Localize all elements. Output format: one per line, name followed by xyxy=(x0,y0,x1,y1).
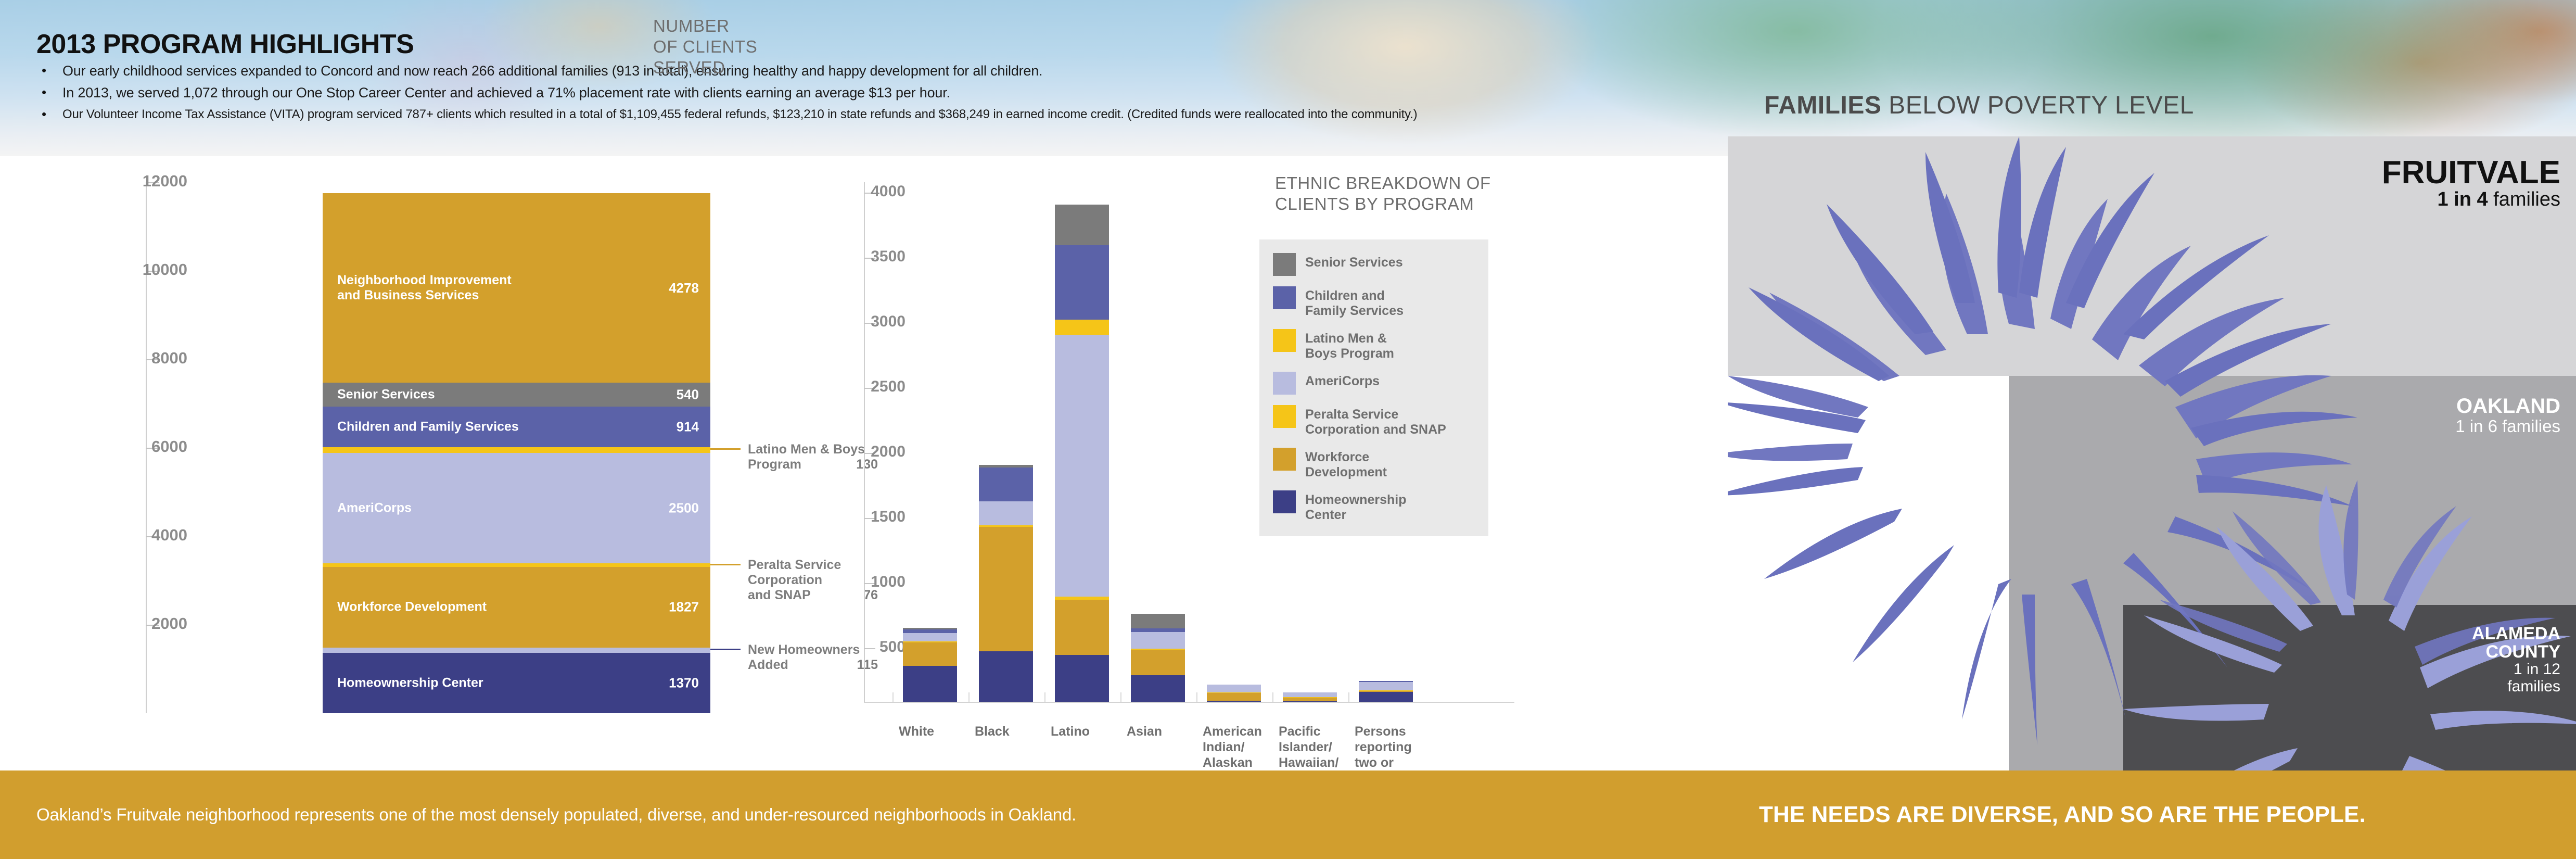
stat-oakland: OAKLAND 1 in 6 families xyxy=(2455,396,2560,436)
list-item: • Our early childhood services expanded … xyxy=(36,62,1754,79)
callout-line: Peralta Service xyxy=(748,558,878,573)
poverty-title: FAMILIES BELOW POVERTY LEVEL xyxy=(1764,91,2194,120)
bar-segment xyxy=(1055,245,1109,320)
bar-segment-row: Children and Family Services914 xyxy=(337,419,699,434)
callout-text: New HomeownersAdded115 xyxy=(748,642,878,673)
stat-fruitvale-name: FRUITVALE xyxy=(2382,156,2560,189)
stat-oakland-name: OAKLAND xyxy=(2455,396,2560,417)
x-axis-separator xyxy=(968,692,970,702)
bar-segment xyxy=(1359,692,1413,702)
y-tick-label: 3000 xyxy=(871,313,906,331)
legend-label: Workforce Development xyxy=(1305,448,1387,480)
x-axis-category-label: American Indian/ Alaskan xyxy=(1203,724,1276,770)
callout-label: Program xyxy=(748,457,801,472)
bar-callout: Peralta ServiceCorporationand SNAP76 xyxy=(710,558,878,603)
bar-segment xyxy=(979,501,1033,525)
legend-swatch xyxy=(1273,448,1296,471)
bar-segment xyxy=(1055,205,1109,245)
bar-segment-label: AmeriCorps xyxy=(337,500,412,515)
bar-segment-label: Homeownership Center xyxy=(337,675,483,690)
legend-swatch xyxy=(1273,329,1296,352)
bar-segment xyxy=(1283,701,1337,702)
bar-segment-row: Workforce Development1827 xyxy=(337,600,699,615)
legend-item: Latino Men & Boys Program xyxy=(1273,329,1477,361)
legend-item: AmeriCorps xyxy=(1273,372,1477,395)
list-item: • Our Volunteer Income Tax Assistance (V… xyxy=(36,106,1754,123)
x-axis-category-label: White xyxy=(899,724,972,739)
y-axis-line xyxy=(864,182,865,703)
callout-line: New Homeowners xyxy=(748,642,878,658)
chart-mid-title: ETHNIC BREAKDOWN OF CLIENTS BY PROGRAM xyxy=(1275,173,1491,214)
bar-segment xyxy=(979,651,1033,702)
poverty-panel xyxy=(1728,136,2576,859)
legend-item: Senior Services xyxy=(1273,253,1477,276)
stat-alameda-name: ALAMEDA COUNTY xyxy=(2342,625,2560,661)
x-axis-category-label: Black xyxy=(975,724,1048,739)
bar-segment-value: 540 xyxy=(677,387,699,402)
bar-segment xyxy=(1359,682,1413,690)
footer-right-banner: THE NEEDS ARE DIVERSE, AND SO ARE THE PE… xyxy=(1728,770,2576,859)
y-tick-label: 6000 xyxy=(151,437,187,456)
chart-left-title: NUMBER OF CLIENTS SERVED xyxy=(653,16,757,78)
x-axis-separator xyxy=(1348,692,1349,702)
bar-segment xyxy=(1283,698,1337,701)
stat-oakland-ratio: 1 in 6 xyxy=(2455,416,2497,436)
bar-segment: Senior Services540 xyxy=(323,383,710,407)
bar-segment xyxy=(1055,335,1109,597)
legend-swatch xyxy=(1273,253,1296,276)
legend-item: Homeownership Center xyxy=(1273,490,1477,523)
bar-callout: Latino Men & BoysProgram130 xyxy=(710,442,878,472)
bar-segment xyxy=(1207,693,1261,701)
x-axis-separator xyxy=(1272,692,1273,702)
callout-text: Latino Men & BoysProgram130 xyxy=(748,442,878,472)
stacked-bar-clients: Neighborhood Improvement and Business Se… xyxy=(323,193,710,713)
legend-swatch xyxy=(1273,372,1296,395)
footer-left-banner: Oakland’s Fruitvale neighborhood represe… xyxy=(0,770,1728,859)
y-tick-label: 2000 xyxy=(871,443,906,461)
legend-swatch xyxy=(1273,490,1296,513)
legend-item: Children and Family Services xyxy=(1273,286,1477,319)
stat-fruitvale-value: 1 in 4 families xyxy=(2382,189,2560,211)
legend-label: Peralta Service Corporation and SNAP xyxy=(1305,405,1446,437)
y-tick-label: 1500 xyxy=(871,508,906,526)
stat-alameda: ALAMEDA COUNTY 1 in 12 families xyxy=(2342,625,2560,695)
footer-right-text: THE NEEDS ARE DIVERSE, AND SO ARE THE PE… xyxy=(1759,802,2366,828)
bar-segment-row: Neighborhood Improvement and Business Se… xyxy=(337,273,699,303)
bullet-text: In 2013, we served 1,072 through our One… xyxy=(62,84,950,101)
bar-segment xyxy=(323,447,710,453)
list-item: • In 2013, we served 1,072 through our O… xyxy=(36,84,1754,101)
bar-column xyxy=(1359,681,1413,702)
callout-leader-line xyxy=(710,448,741,450)
bar-column xyxy=(1207,685,1261,702)
legend-label: Homeownership Center xyxy=(1305,490,1406,523)
bar-segment-value: 2500 xyxy=(669,500,699,515)
y-tick-label: 1000 xyxy=(871,573,906,591)
x-axis-separator xyxy=(1044,692,1045,702)
bar-segment xyxy=(903,666,957,702)
bar-segment xyxy=(1055,655,1109,702)
bar-column xyxy=(903,628,957,702)
y-tick-label: 10000 xyxy=(143,260,187,279)
footer-left-text: Oakland’s Fruitvale neighborhood represe… xyxy=(36,805,1076,825)
stat-fruitvale: FRUITVALE 1 in 4 families xyxy=(2382,156,2560,211)
bar-segment xyxy=(1131,614,1185,629)
bar-segment-value: 4278 xyxy=(669,281,699,296)
legend-swatch xyxy=(1273,286,1296,309)
bar-column xyxy=(979,465,1033,702)
y-tick-label: 2500 xyxy=(871,378,906,396)
callout-leader-line xyxy=(710,649,741,650)
poverty-title-bold: FAMILIES xyxy=(1764,92,1881,119)
bar-segment xyxy=(1055,320,1109,335)
x-axis-category-label: Asian xyxy=(1127,724,1200,739)
bullet-text: Our Volunteer Income Tax Assistance (VIT… xyxy=(62,106,1417,123)
y-tick xyxy=(864,648,875,649)
callout-line: Added115 xyxy=(748,658,878,673)
bullet-marker-icon: • xyxy=(36,84,62,100)
stat-oakland-value: 1 in 6 families xyxy=(2455,417,2560,436)
x-axis-line xyxy=(864,702,1514,703)
x-axis-separator xyxy=(1196,692,1197,702)
legend-label: AmeriCorps xyxy=(1305,372,1380,389)
bar-segment-value: 1370 xyxy=(669,675,699,690)
chart-legend: Senior ServicesChildren and Family Servi… xyxy=(1259,239,1488,536)
chart-clients-served: 12000100008000600040002000 Neighborhood … xyxy=(146,182,718,713)
stat-fruitvale-unit: families xyxy=(2488,188,2560,210)
bar-column xyxy=(1131,614,1185,702)
callout-label: Added xyxy=(748,658,788,673)
legend-label: Latino Men & Boys Program xyxy=(1305,329,1394,361)
bar-segment: Workforce Development1827 xyxy=(323,567,710,648)
stat-fruitvale-ratio: 1 in 4 xyxy=(2437,188,2488,210)
bullet-text: Our early childhood services expanded to… xyxy=(62,62,1042,79)
y-tick-label: 500 xyxy=(879,638,906,656)
stat-oakland-unit: families xyxy=(2497,416,2560,436)
bar-segment: Children and Family Services914 xyxy=(323,407,710,447)
legend-label: Senior Services xyxy=(1305,253,1403,270)
bar-segment-label: Senior Services xyxy=(337,387,435,402)
bar-segment xyxy=(1131,650,1185,675)
bar-segment-value: 1827 xyxy=(669,600,699,615)
y-tick-label: 4000 xyxy=(871,183,906,200)
y-tick-label: 3500 xyxy=(871,248,906,266)
bar-segment xyxy=(903,642,957,666)
bar-column xyxy=(1055,205,1109,702)
bar-column xyxy=(1283,692,1337,702)
bar-segment xyxy=(979,468,1033,501)
x-axis-separator xyxy=(1120,692,1121,702)
legend-item: Workforce Development xyxy=(1273,448,1477,480)
legend-item: Peralta Service Corporation and SNAP xyxy=(1273,405,1477,437)
bar-segment xyxy=(1283,692,1337,697)
bar-segment-row: AmeriCorps2500 xyxy=(337,500,699,515)
y-tick-label: 8000 xyxy=(151,349,187,368)
bar-segment: Neighborhood Improvement and Business Se… xyxy=(323,193,710,383)
bar-callout: New HomeownersAdded115 xyxy=(710,642,878,673)
legend-label: Children and Family Services xyxy=(1305,286,1404,319)
bar-segment xyxy=(1207,701,1261,702)
bullet-marker-icon: • xyxy=(36,106,62,122)
bar-segment xyxy=(1207,685,1261,692)
callout-line: Latino Men & Boys xyxy=(748,442,878,457)
callout-label: and SNAP xyxy=(748,588,811,603)
chart-ethnic-breakdown: 4000350030002500200015001000500 WhiteBla… xyxy=(864,182,1514,713)
stat-alameda-unit: families xyxy=(2507,678,2560,695)
poverty-title-light: BELOW POVERTY LEVEL xyxy=(1881,92,2194,119)
callout-leader-line xyxy=(710,564,741,565)
bar-segment: AmeriCorps2500 xyxy=(323,453,710,564)
bar-segment xyxy=(979,527,1033,651)
callout-line: Corporation xyxy=(748,573,878,588)
highlights-bullet-list: • Our early childhood services expanded … xyxy=(36,62,1754,128)
stat-alameda-ratio: 1 in 12 xyxy=(2514,661,2560,678)
bar-segment xyxy=(1131,675,1185,702)
bar-segment: Homeownership Center1370 xyxy=(323,653,710,713)
y-tick-label: 2000 xyxy=(151,614,187,633)
callout-text: Peralta ServiceCorporationand SNAP76 xyxy=(748,558,878,603)
bar-segment-label: Children and Family Services xyxy=(337,419,519,434)
callout-line: and SNAP76 xyxy=(748,588,878,603)
legend-swatch xyxy=(1273,405,1296,428)
y-tick-label: 12000 xyxy=(143,172,187,191)
bar-segment-row: Senior Services540 xyxy=(337,387,699,402)
bar-segment-value: 914 xyxy=(677,419,699,434)
callout-line: Program130 xyxy=(748,457,878,472)
bar-segment-row: Homeownership Center1370 xyxy=(337,675,699,690)
bar-segment-label: Neighborhood Improvement and Business Se… xyxy=(337,273,512,303)
bar-segment xyxy=(1131,632,1185,649)
x-axis-separator xyxy=(892,692,894,702)
bullet-marker-icon: • xyxy=(36,62,62,78)
bar-segment-label: Workforce Development xyxy=(337,600,487,615)
x-axis-category-label: Latino xyxy=(1051,724,1124,739)
bar-segment xyxy=(323,648,710,653)
bar-segment xyxy=(903,633,957,641)
stat-alameda-value: 1 in 12 families xyxy=(2342,661,2560,695)
page-title: 2013 PROGRAM HIGHLIGHTS xyxy=(36,29,414,60)
bar-segment xyxy=(1055,600,1109,655)
y-tick-label: 4000 xyxy=(151,526,187,545)
